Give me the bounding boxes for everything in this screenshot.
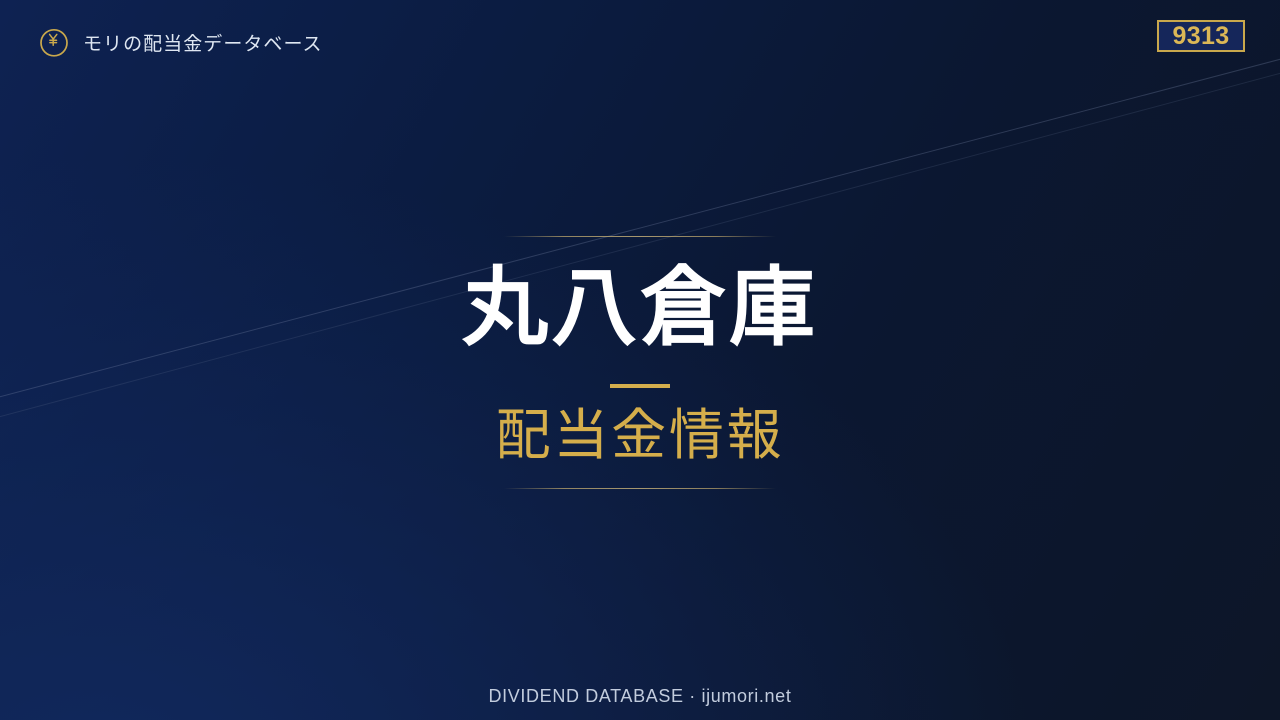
ticker-code: 9313 [1172,24,1229,49]
page-subtitle: 配当金情報 [496,408,785,463]
hero-rule-bottom [504,488,776,489]
footer: DIVIDEND DATABASE · ijumori.net [0,686,1280,707]
header-brand[interactable]: モリの配当金データベース [38,26,323,58]
ticker-badge[interactable]: 9313 [1157,20,1245,52]
yen-coin-icon [38,26,70,58]
hero-rule-top [504,236,776,237]
title-card-stage: モリの配当金データベース 9313 丸八倉庫 配当金情報 DIVIDEND DA… [0,0,1280,720]
footer-caption: DIVIDEND DATABASE · ijumori.net [489,686,792,706]
brand-title: モリの配当金データベース [83,29,323,56]
company-name: 丸八倉庫 [462,265,818,351]
hero-block: 丸八倉庫 配当金情報 [0,236,1280,489]
gold-divider-bar [610,384,670,388]
